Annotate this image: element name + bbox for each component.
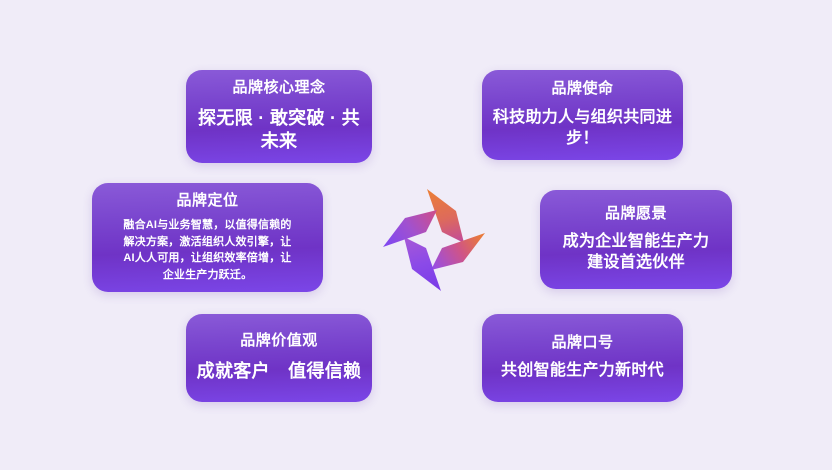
card-title-brand-core-concept: 品牌核心理念 — [232, 79, 325, 98]
card-title-brand-vision: 品牌愿景 — [605, 205, 667, 224]
pinwheel-logo — [374, 180, 494, 300]
card-title-brand-positioning: 品牌定位 — [176, 192, 238, 211]
card-brand-positioning[interactable]: 品牌定位 融合AI与业务智慧，以值得信赖的 解决方案，激活组织人效引擎，让 AI… — [92, 183, 323, 292]
card-brand-values[interactable]: 品牌价值观 成就客户 值得信赖 — [186, 314, 372, 402]
card-body-brand-vision: 成为企业智能生产力 建设首选伙伴 — [563, 232, 710, 274]
card-body-brand-positioning: 融合AI与业务智慧，以值得信赖的 解决方案，激活组织人效引擎，让 AI人人可用，… — [123, 217, 291, 283]
card-brand-core-concept[interactable]: 品牌核心理念 探无限 · 敢突破 · 共未来 — [186, 70, 372, 163]
card-title-brand-mission: 品牌使命 — [551, 80, 613, 99]
card-title-brand-values: 品牌价值观 — [240, 332, 318, 351]
card-body-brand-core-concept: 探无限 · 敢突破 · 共未来 — [196, 107, 362, 154]
card-brand-slogan[interactable]: 品牌口号 共创智能生产力新时代 — [482, 314, 683, 402]
card-brand-vision[interactable]: 品牌愿景 成为企业智能生产力 建设首选伙伴 — [540, 190, 732, 289]
card-body-brand-values: 成就客户 值得信赖 — [197, 360, 362, 383]
card-body-brand-slogan: 共创智能生产力新时代 — [501, 361, 664, 382]
card-body-brand-mission: 科技助力人与组织共同进步！ — [492, 108, 673, 150]
card-title-brand-slogan: 品牌口号 — [551, 334, 613, 353]
card-brand-mission[interactable]: 品牌使命 科技助力人与组织共同进步！ — [482, 70, 683, 160]
brand-framework-diagram: 品牌核心理念 探无限 · 敢突破 · 共未来 品牌使命 科技助力人与组织共同进步… — [0, 0, 832, 470]
